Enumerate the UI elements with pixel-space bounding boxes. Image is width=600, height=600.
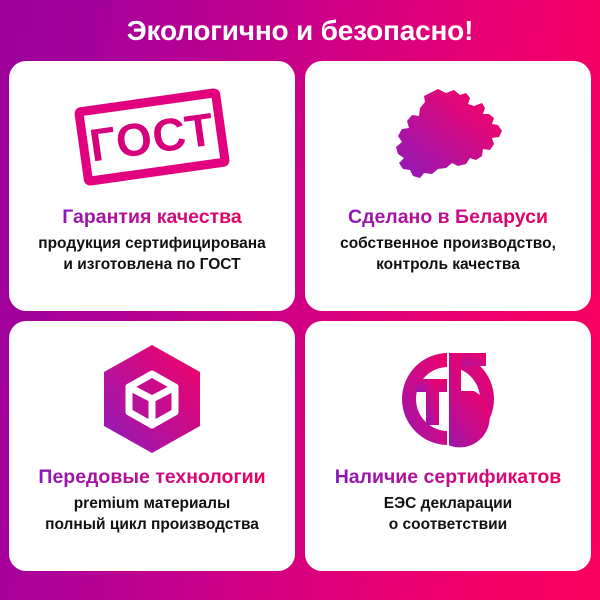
gost-stamp-icon: ГОСТ — [19, 73, 285, 201]
feature-card-advanced-technologies[interactable]: Передовые технологии premium материалы п… — [9, 321, 295, 571]
card-subtitle: продукция сертифицирована и изготовлена … — [38, 234, 266, 276]
card-subtitle: ЕЭС декларации о соответствии — [384, 494, 512, 536]
page-title: Экологично и безопасно! — [0, 0, 600, 61]
stb-certificate-icon — [315, 335, 581, 463]
card-subtitle: premium материалы полный цикл производст… — [45, 494, 259, 536]
feature-card-quality-guarantee[interactable]: ГОСТ Гарантия качества продукция сертифи… — [9, 61, 295, 311]
card-title: Гарантия качества — [62, 207, 242, 228]
card-title: Передовые технологии — [38, 467, 265, 488]
feature-card-grid: ГОСТ Гарантия качества продукция сертифи… — [9, 61, 591, 600]
card-title: Наличие сертификатов — [335, 467, 562, 488]
feature-card-made-in-belarus[interactable]: Сделано в Беларуси собственное производс… — [305, 61, 591, 311]
belarus-map-icon — [315, 75, 581, 203]
card-title: Сделано в Беларуси — [348, 207, 548, 228]
feature-card-certificates[interactable]: Наличие сертификатов ЕЭС декларации о со… — [305, 321, 591, 571]
hexagon-cube-icon — [19, 335, 285, 463]
card-subtitle: собственное производство, контроль качес… — [340, 234, 556, 276]
promo-banner: Экологично и безопасно! ГОСТ Гарантия ка… — [0, 0, 600, 600]
svg-text:ГОСТ: ГОСТ — [86, 103, 217, 172]
